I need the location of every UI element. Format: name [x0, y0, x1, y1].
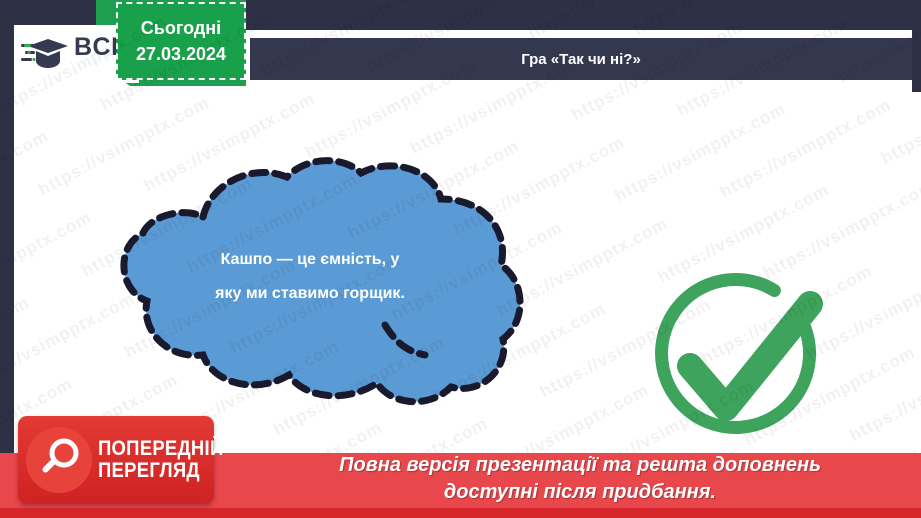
slide-title-bar: Гра «Так чи ні?» [250, 38, 912, 80]
preview-badge[interactable]: ПОПЕРЕДНІЙ ПЕРЕГЛЯД [18, 416, 214, 504]
purchase-banner-line-2: доступні після придбання. [250, 479, 910, 506]
preview-badge-line-1: ПОПЕРЕДНІЙ [98, 438, 223, 460]
watermark-text: https://vsimpptx.com [0, 208, 95, 314]
purchase-banner-accent [0, 508, 921, 518]
page-title: Гра «Так чи ні?» [521, 51, 641, 68]
check-circle-icon [638, 262, 834, 458]
watermark-text: https://vsimpptx.com [611, 99, 789, 205]
cloud-shape [124, 161, 520, 402]
today-date: 27.03.2024 [136, 41, 226, 67]
today-date-badge: Сьогодні 27.03.2024 [116, 2, 246, 80]
slide-canvas: BCIM pptx Сьогодні 27.03.2024 Гра «Так ч… [0, 0, 921, 518]
graduation-cap-icon [20, 34, 72, 74]
preview-badge-line-2: ПЕРЕГЛЯД [98, 460, 223, 482]
today-label: Сьогодні [141, 15, 221, 41]
purchase-banner-line-1: Повна версія презентації та решта доповн… [250, 452, 910, 479]
preview-badge-label: ПОПЕРЕДНІЙ ПЕРЕГЛЯД [98, 438, 223, 483]
purchase-banner-text: Повна версія презентації та решта доповн… [250, 452, 910, 506]
magnifier-icon [26, 427, 92, 493]
frame-right-bar [912, 0, 921, 92]
cloud-callout: Кашпо — це ємність, у яку ми ставимо гор… [85, 155, 535, 420]
watermark-text: https://vsimpptx.com [846, 339, 921, 445]
watermark-text: https://vsimpptx.com [717, 95, 895, 201]
frame-left-bar [0, 0, 14, 455]
